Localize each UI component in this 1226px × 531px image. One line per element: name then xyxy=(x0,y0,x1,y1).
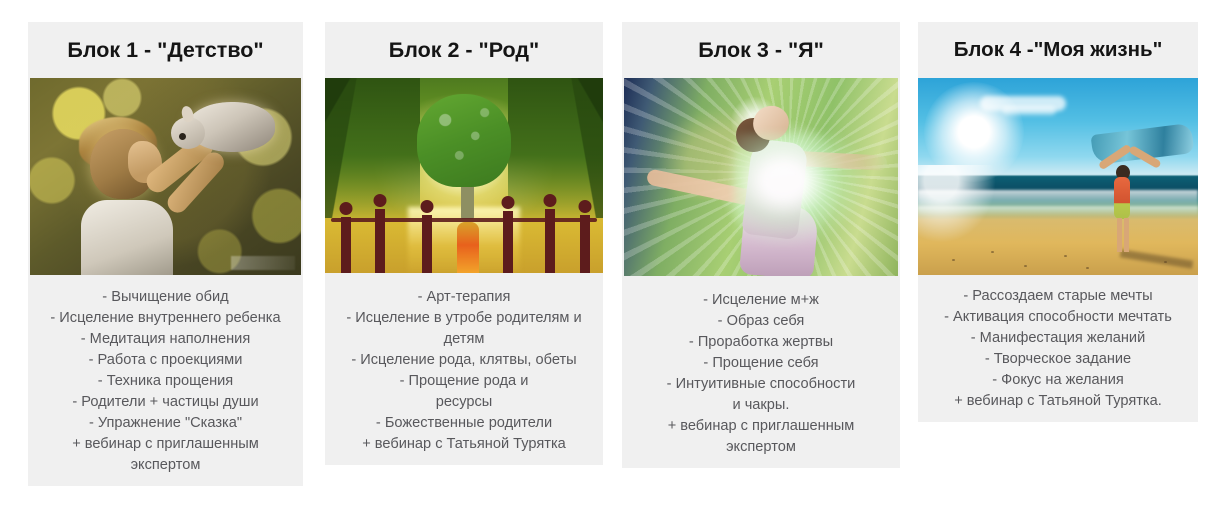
block-card-2[interactable]: Блок 2 - "Род" - Арт-терапия - Исцеление… xyxy=(325,22,603,465)
list-item: экспертом xyxy=(632,437,890,458)
list-item: - Творческое задание xyxy=(928,349,1188,370)
list-item: - Исцеление внутреннего ребенка xyxy=(38,308,293,329)
beach-shadow xyxy=(1119,250,1192,269)
block-1-line-list: - Вычищение обид - Исцеление внутреннего… xyxy=(28,275,303,486)
child-silhouette xyxy=(457,222,479,273)
list-item: и чакры. xyxy=(632,395,890,416)
aura-glow xyxy=(734,133,866,248)
beach-woman-body xyxy=(1114,177,1130,219)
list-item: - Исцеление м+ж xyxy=(632,290,890,311)
photo-watermark xyxy=(231,256,295,270)
list-item: - Интуитивные способности xyxy=(632,374,890,395)
block-1-title: Блок 1 - "Детство" xyxy=(28,22,303,78)
list-item: - Фокус на желания xyxy=(928,370,1188,391)
person-silhouette xyxy=(336,215,356,274)
list-item: - Прощение себя xyxy=(632,353,890,374)
list-item: - Медитация наполнения xyxy=(38,329,293,350)
forest-left-trees xyxy=(325,78,420,218)
list-item: + вебинар с Татьяной Турятка xyxy=(335,434,593,455)
list-item: - Манифестация желаний xyxy=(928,328,1188,349)
block-4-title: Блок 4 -"Моя жизнь" xyxy=(918,22,1198,78)
list-item: - Божественные родители xyxy=(335,413,593,434)
block-4-line-list: - Рассоздаем старые мечты - Активация сп… xyxy=(918,275,1198,422)
list-item: ресурсы xyxy=(335,392,593,413)
person-silhouette xyxy=(539,207,561,273)
surf-line xyxy=(918,190,1198,206)
block-3-line-list: - Исцеление м+ж - Образ себя - Проработк… xyxy=(622,276,900,468)
list-item: - Родители + частицы души xyxy=(38,392,293,413)
list-item: - Техника прощения xyxy=(38,371,293,392)
boy-body-shape xyxy=(81,200,173,275)
list-item: - Активация способности мечтать xyxy=(928,307,1188,328)
person-silhouette xyxy=(575,213,595,273)
block-card-4[interactable]: Блок 4 -"Моя жизнь" - Рассоздаем старые … xyxy=(918,22,1198,422)
block-card-1[interactable]: Блок 1 - "Детство" - Вычищение обид - Ис… xyxy=(28,22,303,486)
list-item: - Рассоздаем старые мечты xyxy=(928,286,1188,307)
block-3-title: Блок 3 - "Я" xyxy=(622,22,900,78)
woman-aura-light-photo xyxy=(624,78,898,276)
list-item: - Исцеление рода, клятвы, обеты xyxy=(335,350,593,371)
boy-with-squirrel-photo xyxy=(30,78,301,275)
list-item: - Образ себя xyxy=(632,311,890,332)
list-item: - Упражнение "Сказка" xyxy=(38,413,293,434)
person-silhouette xyxy=(369,207,391,273)
surf-line xyxy=(918,206,1198,216)
list-item: - Прощение рода и xyxy=(335,371,593,392)
block-2-line-list: - Арт-терапия - Исцеление в утробе родит… xyxy=(325,273,603,465)
list-item: + вебинар с приглашенным xyxy=(632,416,890,437)
list-item: + вебинар с Татьяной Турятка. xyxy=(928,391,1188,412)
list-item: - Вычищение обид xyxy=(38,287,293,308)
list-item: - Арт-терапия xyxy=(335,287,593,308)
cloud-shape xyxy=(1002,106,1056,115)
list-item: - Исцеление в утробе родителям и детям xyxy=(335,308,593,350)
beach-woman-legs xyxy=(1117,218,1129,252)
list-item: - Работа с проекциями xyxy=(38,350,293,371)
block-card-3[interactable]: Блок 3 - "Я" - Исцеление м+ж - Образ себ… xyxy=(622,22,900,468)
list-item: - Проработка жертвы xyxy=(632,332,890,353)
list-item: + вебинар с приглашенным экспертом xyxy=(38,434,293,476)
family-tree-silhouettes-photo xyxy=(325,78,603,273)
person-silhouette xyxy=(417,213,437,273)
woman-on-beach-photo xyxy=(918,78,1198,275)
person-silhouette xyxy=(497,209,519,273)
block-2-title: Блок 2 - "Род" xyxy=(325,22,603,78)
tree-crown-shape xyxy=(417,94,512,188)
blocks-board: Блок 1 - "Детство" - Вычищение обид - Ис… xyxy=(0,0,1226,531)
